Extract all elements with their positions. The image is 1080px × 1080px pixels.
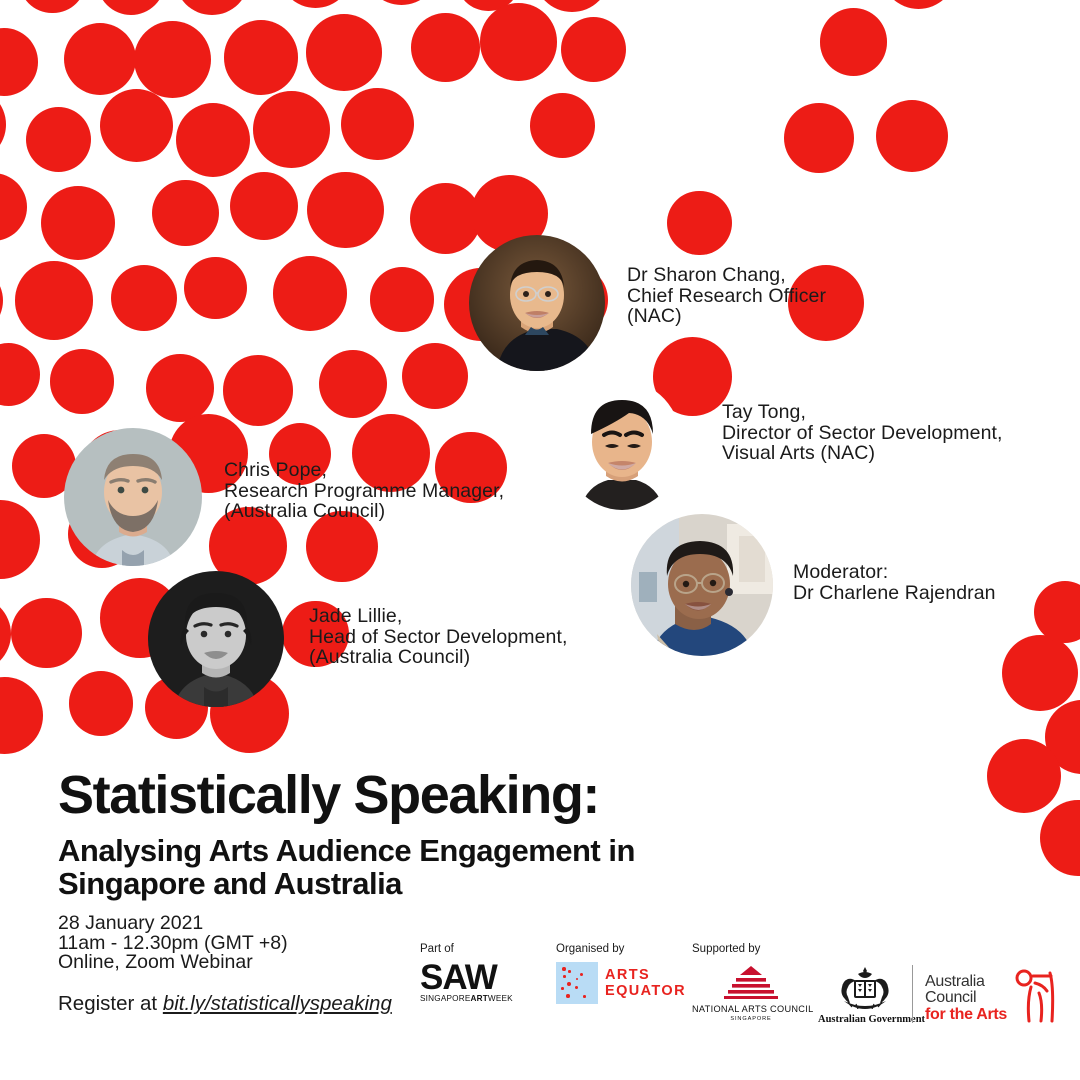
saw-tagline-art: ART bbox=[470, 994, 487, 1003]
decorative-dot bbox=[223, 355, 293, 425]
logo-group-part-of: Part of SAW SINGAPOREARTWEEK bbox=[420, 943, 513, 1004]
logo-divider bbox=[912, 965, 913, 1023]
portrait-tay-tong bbox=[562, 380, 682, 510]
saw-logo: SAW SINGAPOREARTWEEK bbox=[420, 962, 513, 1004]
arts-equator-dot-swatch-icon bbox=[556, 962, 598, 1004]
decorative-dot bbox=[146, 354, 214, 422]
speaker-org: (Australia Council) bbox=[224, 501, 504, 522]
decorative-dot bbox=[230, 172, 298, 240]
decorative-dot bbox=[100, 89, 173, 162]
decorative-dot bbox=[0, 596, 11, 673]
australian-government-name: Australian Government bbox=[818, 1014, 912, 1026]
decorative-dot bbox=[1045, 700, 1080, 774]
australian-government-logo: Australian Government bbox=[818, 965, 912, 1026]
register-label: Register at bbox=[58, 992, 163, 1015]
headline-block: Statistically Speaking: Analysing Arts A… bbox=[58, 766, 778, 900]
speaker-text-tay-tong: Tay Tong, Director of Sector Development… bbox=[722, 402, 1003, 464]
decorative-dot bbox=[176, 103, 250, 177]
decorative-dot bbox=[134, 21, 211, 98]
speaker-org: (Australia Council) bbox=[309, 647, 568, 668]
decorative-dot bbox=[306, 14, 382, 90]
decorative-dot bbox=[224, 20, 298, 94]
decorative-dot bbox=[0, 343, 40, 406]
decorative-dot bbox=[1002, 635, 1078, 711]
australia-council-line-2: Council bbox=[925, 990, 1007, 1007]
decorative-dot bbox=[987, 739, 1061, 813]
speaker-org: (NAC) bbox=[627, 306, 826, 327]
decorative-dot bbox=[561, 17, 626, 82]
decorative-dot bbox=[410, 183, 481, 254]
nac-name: NATIONAL ARTS COUNCIL bbox=[692, 1004, 810, 1015]
decorative-dot bbox=[0, 28, 38, 96]
decorative-dot bbox=[279, 0, 353, 8]
decorative-dot bbox=[1034, 581, 1080, 643]
decorative-dot bbox=[364, 0, 439, 5]
register-link[interactable]: bit.ly/statisticallyspeaking bbox=[163, 992, 392, 1015]
register-line: Register at bit.ly/statisticallyspeaking bbox=[58, 992, 392, 1016]
speaker-text-chris-pope: Chris Pope, Research Programme Manager, … bbox=[224, 460, 504, 522]
page-subtitle: Analysing Arts Audience Engagement in Si… bbox=[58, 834, 778, 900]
commonwealth-coat-of-arms-icon bbox=[818, 965, 912, 1009]
speaker-role: Director of Sector Development, bbox=[722, 423, 1003, 444]
decorative-dot bbox=[1040, 800, 1080, 876]
speaker-name: Chris Pope, bbox=[224, 460, 504, 481]
decorative-dot bbox=[50, 349, 115, 414]
portrait-sharon-chang bbox=[469, 235, 605, 371]
decorative-dot bbox=[69, 671, 133, 735]
nac-mark-icon bbox=[692, 965, 810, 999]
decorative-dot bbox=[876, 100, 948, 172]
decorative-dot bbox=[26, 107, 91, 172]
moderator-name: Dr Charlene Rajendran bbox=[793, 583, 996, 604]
speaker-text-dr-sharon-chang: Dr Sharon Chang, Chief Research Officer … bbox=[627, 265, 826, 327]
arts-equator-logo: ARTS EQUATOR bbox=[556, 962, 686, 1004]
decorative-dot bbox=[0, 677, 43, 754]
logo-group-organised-by: Organised by ARTS EQUATOR bbox=[556, 943, 686, 1004]
portrait-charlene-rajendran bbox=[631, 514, 773, 656]
page-title: Statistically Speaking: bbox=[58, 766, 778, 824]
decorative-dot bbox=[480, 3, 557, 80]
decorative-dot bbox=[0, 265, 3, 337]
arts-equator-line-2: EQUATOR bbox=[605, 983, 686, 999]
saw-wordmark: SAW bbox=[420, 962, 513, 994]
decorative-dot bbox=[97, 0, 165, 15]
speaker-org: Visual Arts (NAC) bbox=[722, 443, 1003, 464]
event-poster: Dr Sharon Chang, Chief Research Officer … bbox=[0, 0, 1080, 1080]
part-of-caption: Part of bbox=[420, 943, 513, 956]
decorative-dot bbox=[0, 87, 6, 162]
decorative-dot bbox=[11, 598, 81, 668]
decorative-dot bbox=[667, 191, 732, 256]
australia-council-line-3: for the Arts bbox=[925, 1007, 1007, 1024]
australia-council-wordmark: Australia Council for the Arts bbox=[925, 974, 1007, 1024]
saw-tagline: SINGAPOREARTWEEK bbox=[420, 994, 513, 1004]
event-date: 28 January 2021 bbox=[58, 914, 288, 934]
decorative-dot bbox=[411, 13, 480, 82]
australia-council-logo: Australia Council for the Arts bbox=[925, 967, 1057, 1023]
arts-equator-wordmark: ARTS EQUATOR bbox=[605, 967, 686, 999]
speaker-text-charlene-rajendran: Moderator: Dr Charlene Rajendran bbox=[793, 562, 996, 603]
speaker-role: Research Programme Manager, bbox=[224, 481, 504, 502]
decorative-dot bbox=[456, 0, 520, 11]
decorative-dot bbox=[41, 186, 115, 260]
speaker-role: Chief Research Officer bbox=[627, 286, 826, 307]
decorative-dot bbox=[784, 103, 854, 173]
decorative-dot bbox=[19, 0, 86, 13]
subtitle-line-2: Singapore and Australia bbox=[58, 867, 778, 900]
decorative-dot bbox=[64, 23, 136, 95]
speaker-name: Tay Tong, bbox=[722, 402, 1003, 423]
saw-tagline-week: WEEK bbox=[488, 994, 513, 1003]
speaker-name: Dr Sharon Chang, bbox=[627, 265, 826, 286]
saw-tagline-singapore: SINGAPORE bbox=[420, 994, 470, 1003]
speaker-text-jade-lillie: Jade Lillie, Head of Sector Development,… bbox=[309, 606, 568, 668]
event-format: Online, Zoom Webinar bbox=[58, 953, 288, 973]
supported-by-caption: Supported by bbox=[692, 943, 760, 956]
decorative-dot bbox=[273, 256, 348, 331]
decorative-dot bbox=[253, 91, 330, 168]
partner-logo-strip: Part of SAW SINGAPOREARTWEEK Organised b… bbox=[420, 943, 1060, 1033]
speaker-role: Head of Sector Development, bbox=[309, 627, 568, 648]
logo-group-supported-by: Supported by bbox=[692, 943, 760, 962]
portrait-jade-lillie bbox=[148, 571, 284, 707]
decorative-dot bbox=[534, 0, 610, 12]
decorative-dot bbox=[402, 343, 468, 409]
decorative-dot bbox=[319, 350, 387, 418]
event-details: 28 January 2021 11am - 12.30pm (GMT +8) … bbox=[58, 914, 288, 973]
arts-equator-line-1: ARTS bbox=[605, 967, 686, 983]
decorative-dot bbox=[184, 257, 247, 320]
decorative-dot bbox=[881, 0, 956, 9]
decorative-dot bbox=[530, 93, 595, 158]
australia-council-line-1: Australia bbox=[925, 974, 1007, 991]
decorative-dot bbox=[15, 261, 94, 340]
decorative-dot bbox=[175, 0, 249, 15]
decorative-dot bbox=[307, 172, 383, 248]
decorative-dot bbox=[111, 265, 177, 331]
subtitle-line-1: Analysing Arts Audience Engagement in bbox=[58, 834, 778, 867]
moderator-label: Moderator: bbox=[793, 562, 996, 583]
decorative-dot bbox=[820, 8, 887, 75]
nac-city: SINGAPORE bbox=[692, 1015, 810, 1023]
decorative-dot bbox=[341, 88, 413, 160]
decorative-dot bbox=[0, 173, 27, 241]
organised-by-caption: Organised by bbox=[556, 943, 686, 956]
decorative-dot bbox=[152, 180, 218, 246]
decorative-dot bbox=[0, 500, 40, 579]
speaker-name: Jade Lillie, bbox=[309, 606, 568, 627]
australia-council-figure-icon bbox=[1011, 967, 1057, 1023]
decorative-dot bbox=[370, 267, 434, 331]
national-arts-council-logo: NATIONAL ARTS COUNCIL SINGAPORE bbox=[692, 965, 810, 1023]
portrait-chris-pope bbox=[64, 428, 202, 566]
